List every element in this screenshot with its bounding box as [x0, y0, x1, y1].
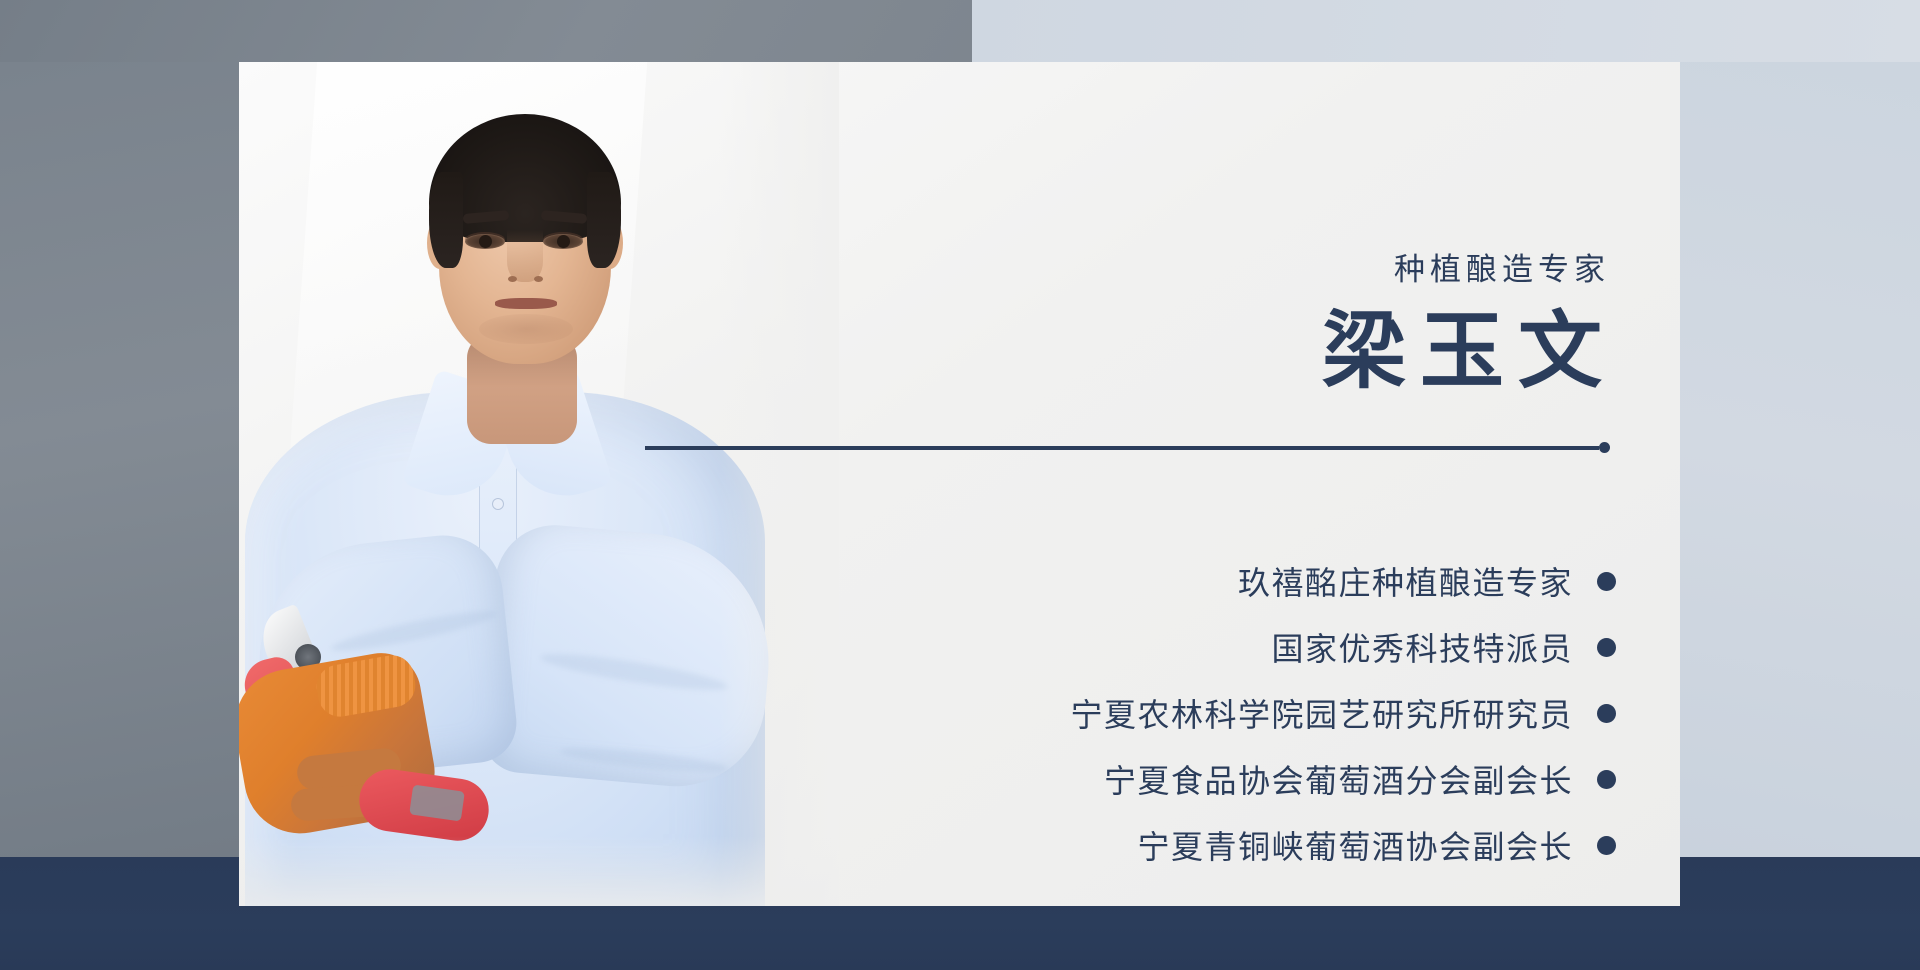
divider-end-dot-icon: [1599, 442, 1610, 453]
hair-side-left: [429, 172, 463, 268]
bullet-dot-icon: [1597, 572, 1616, 591]
portrait-fade-bottom: [239, 836, 839, 906]
profile-card: 种植酿造专家 梁玉文 玖禧酩庄种植酿造专家国家优秀科技特派员宁夏农林科学院园艺研…: [239, 62, 1680, 906]
bullet-dot-icon: [1597, 836, 1616, 855]
credential-item: 玖禧酩庄种植酿造专家: [1238, 548, 1616, 614]
background-band-left-gray: [0, 62, 239, 858]
nostril-left: [508, 276, 517, 282]
bullet-dot-icon: [1597, 770, 1616, 789]
hair-side-right: [587, 172, 621, 268]
divider-line: [645, 446, 1599, 450]
background-band-top-gray: [0, 0, 972, 62]
nostril-right: [534, 276, 543, 282]
credential-item: 国家优秀科技特派员: [1271, 614, 1616, 680]
credential-item: 宁夏食品协会葡萄酒分会副会长: [1104, 746, 1616, 812]
credential-label: 宁夏青铜峡葡萄酒协会副会长: [1137, 822, 1573, 868]
credential-item: 宁夏青铜峡葡萄酒协会副会长: [1137, 812, 1616, 878]
background-band-right-blue: [1680, 62, 1920, 857]
credentials-list: 玖禧酩庄种植酿造专家国家优秀科技特派员宁夏农林科学院园艺研究所研究员宁夏食品协会…: [1070, 548, 1616, 878]
credential-label: 宁夏农林科学院园艺研究所研究员: [1070, 690, 1573, 736]
mouth: [495, 298, 557, 309]
pupil-left: [479, 235, 492, 248]
shirt-button: [492, 498, 504, 510]
profile-banner: 种植酿造专家 梁玉文 玖禧酩庄种植酿造专家国家优秀科技特派员宁夏农林科学院园艺研…: [0, 0, 1920, 970]
credential-label: 玖禧酩庄种植酿造专家: [1238, 558, 1573, 604]
credential-label: 宁夏食品协会葡萄酒分会副会长: [1104, 756, 1573, 802]
credential-label: 国家优秀科技特派员: [1271, 624, 1573, 670]
expert-portrait-photo: [239, 62, 839, 906]
pupil-right: [557, 235, 570, 248]
expert-name: 梁玉文: [1322, 308, 1616, 399]
background-band-top-blue: [972, 0, 1920, 62]
bullet-dot-icon: [1597, 704, 1616, 723]
nose: [507, 230, 543, 282]
portrait-fade-right: [719, 62, 839, 906]
chin-shadow: [479, 314, 573, 344]
bullet-dot-icon: [1597, 638, 1616, 657]
divider: [645, 442, 1610, 453]
credential-item: 宁夏农林科学院园艺研究所研究员: [1070, 680, 1616, 746]
expert-subtitle: 种植酿造专家: [1394, 254, 1610, 285]
